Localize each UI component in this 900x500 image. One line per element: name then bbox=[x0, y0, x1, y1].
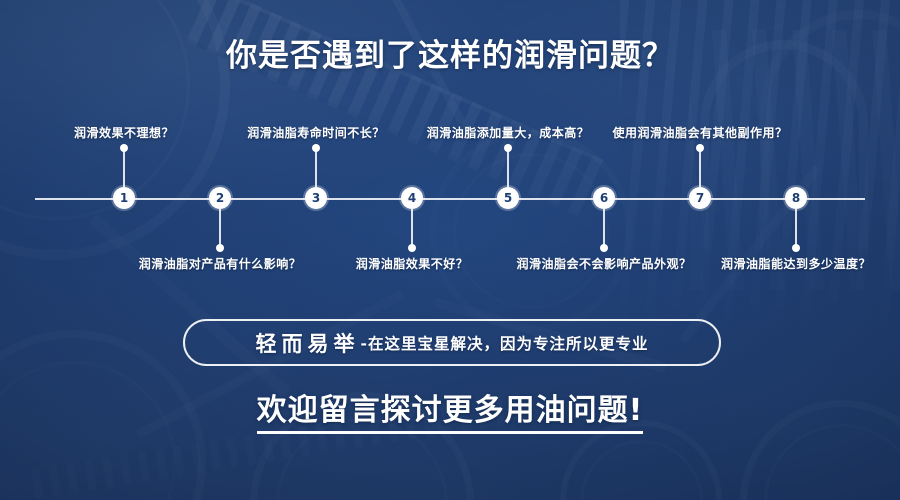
timeline-node-number: 5 bbox=[497, 187, 519, 209]
timeline-node-dot bbox=[120, 144, 128, 152]
solution-banner-highlight: 轻而易举 bbox=[256, 328, 361, 358]
footer-cta-text: 欢迎留言探讨更多用油问题! bbox=[257, 393, 644, 434]
footer-cta[interactable]: 欢迎留言探讨更多用油问题! bbox=[0, 385, 900, 429]
timeline-node-number: 2 bbox=[209, 187, 231, 209]
timeline-node-label: 润滑油脂寿命时间不长？ bbox=[247, 124, 385, 141]
timeline-node-stem bbox=[315, 148, 317, 187]
timeline-node-label: 润滑油脂效果不好？ bbox=[356, 255, 469, 272]
timeline-node-number: 8 bbox=[785, 187, 807, 209]
promo-banner: 你是否遇到了这样的润滑问题？ 1润滑效果不理想？2润滑油脂对产品有什么影响？3润… bbox=[0, 0, 900, 500]
timeline-node-dot bbox=[696, 144, 704, 152]
timeline-node-number: 3 bbox=[305, 187, 327, 209]
timeline-node-stem bbox=[603, 209, 605, 248]
timeline-node-label: 润滑油脂会不会影响产品外观？ bbox=[516, 255, 691, 272]
solution-banner: 轻而易举 -在这里宝星解决，因为专注所以更专业 bbox=[183, 319, 721, 366]
timeline-node-stem bbox=[411, 209, 413, 248]
timeline-node-label: 润滑效果不理想？ bbox=[74, 124, 174, 141]
timeline-node-stem bbox=[123, 148, 125, 187]
timeline-node-label: 润滑油脂对产品有什么影响？ bbox=[139, 255, 302, 272]
timeline-node-stem bbox=[507, 148, 509, 187]
timeline-node-dot bbox=[312, 144, 320, 152]
timeline-node-dot bbox=[792, 244, 800, 252]
timeline-node-dot bbox=[408, 244, 416, 252]
timeline-node-number: 7 bbox=[689, 187, 711, 209]
timeline-node-number: 4 bbox=[401, 187, 423, 209]
timeline-node-label: 使用润滑油脂会有其他副作用？ bbox=[612, 124, 787, 141]
timeline-node-label: 润滑油脂添加量大，成本高？ bbox=[427, 124, 590, 141]
timeline-node-number: 6 bbox=[593, 187, 615, 209]
timeline-node-dot bbox=[600, 244, 608, 252]
timeline-node-number: 1 bbox=[113, 187, 135, 209]
timeline-node-stem bbox=[795, 209, 797, 248]
timeline-node-stem bbox=[219, 209, 221, 248]
solution-banner-text: -在这里宝星解决，因为专注所以更专业 bbox=[361, 332, 649, 354]
timeline-axis bbox=[35, 198, 865, 200]
timeline-node-label: 润滑油脂能达到多少温度？ bbox=[721, 255, 871, 272]
timeline-node-dot bbox=[504, 144, 512, 152]
timeline-node-dot bbox=[216, 244, 224, 252]
timeline-node-stem bbox=[699, 148, 701, 187]
